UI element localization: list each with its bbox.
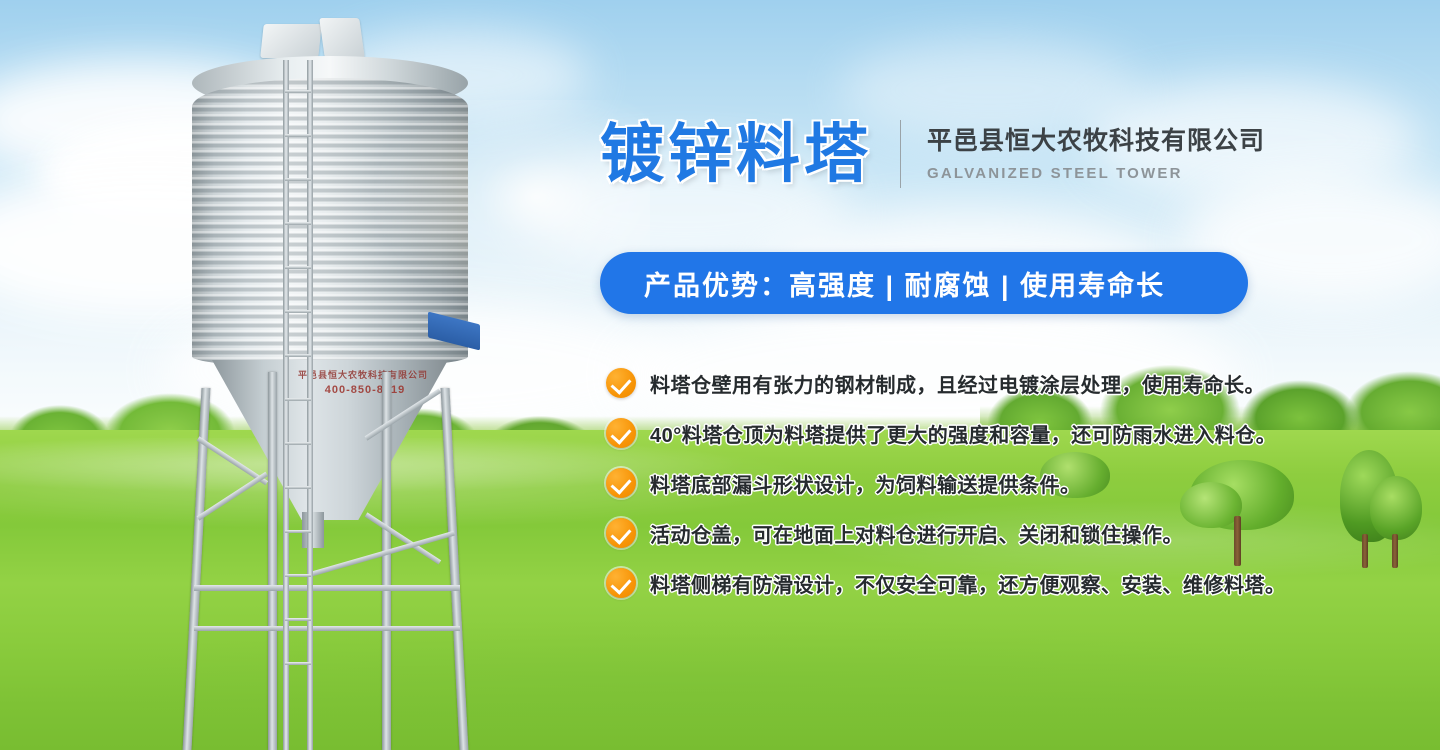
feature-item: 料塔底部漏斗形状设计，为饲料输送提供条件。	[606, 458, 1366, 508]
feature-text: 料塔底部漏斗形状设计，为饲料输送提供条件。	[650, 469, 1081, 498]
headline-row: 镀锌料塔 平邑县恒大农牧科技有限公司 GALVANIZED STEEL TOWE…	[600, 120, 1265, 188]
page-title: 镀锌料塔	[600, 122, 872, 186]
advantage-pill: 产品优势：高强度 | 耐腐蚀 | 使用寿命长	[600, 252, 1248, 314]
check-circle-icon	[606, 518, 636, 548]
check-circle-icon	[606, 468, 636, 498]
banner-content: 镀锌料塔 平邑县恒大农牧科技有限公司 GALVANIZED STEEL TOWE…	[0, 0, 1440, 750]
feature-list: 料塔仓壁用有张力的钢材制成，且经过电镀涂层处理，使用寿命长。 40°料塔仓顶为料…	[606, 358, 1366, 608]
feature-text: 料塔侧梯有防滑设计，不仅安全可靠，还方便观察、安装、维修料塔。	[650, 569, 1286, 598]
check-circle-icon	[606, 568, 636, 598]
title-divider	[900, 120, 901, 188]
check-circle-icon	[606, 418, 636, 448]
company-name: 平邑县恒大农牧科技有限公司	[927, 126, 1265, 157]
feature-item: 40°料塔仓顶为料塔提供了更大的强度和容量，还可防雨水进入料仓。	[606, 408, 1366, 458]
feature-text: 料塔仓壁用有张力的钢材制成，且经过电镀涂层处理，使用寿命长。	[650, 369, 1265, 398]
advantage-pill-text: 产品优势：高强度 | 耐腐蚀 | 使用寿命长	[644, 264, 1165, 303]
feature-text: 40°料塔仓顶为料塔提供了更大的强度和容量，还可防雨水进入料仓。	[650, 419, 1276, 448]
feature-item: 活动仓盖，可在地面上对料仓进行开启、关闭和锁住操作。	[606, 508, 1366, 558]
company-name-en: GALVANIZED STEEL TOWER	[927, 165, 1265, 182]
feature-text: 活动仓盖，可在地面上对料仓进行开启、关闭和锁住操作。	[650, 519, 1183, 548]
company-block: 平邑县恒大农牧科技有限公司 GALVANIZED STEEL TOWER	[927, 126, 1265, 182]
check-circle-icon	[606, 368, 636, 398]
feature-item: 料塔仓壁用有张力的钢材制成，且经过电镀涂层处理，使用寿命长。	[606, 358, 1366, 408]
feature-item: 料塔侧梯有防滑设计，不仅安全可靠，还方便观察、安装、维修料塔。	[606, 558, 1366, 608]
